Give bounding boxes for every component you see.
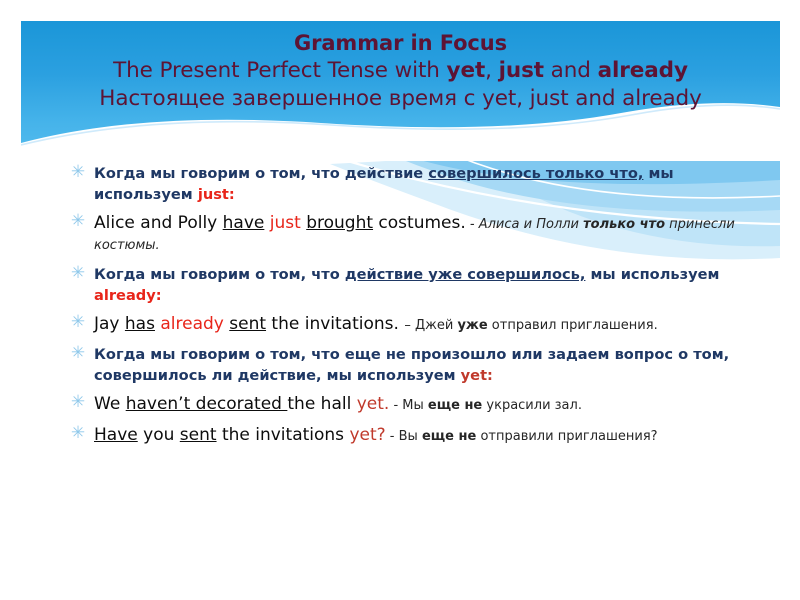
text-run-1: haven’t decorated: [126, 394, 288, 414]
bullet-text: Когда мы говорим о том, что действие сов…: [94, 164, 674, 203]
asterisk-bullet-icon: ✳: [70, 213, 86, 230]
text-run-0: Jay: [94, 314, 125, 334]
bullet-text: Jay has already sent the invitations. – …: [94, 315, 658, 333]
text-run-3: just: [270, 213, 301, 233]
bullet-item-rule-already: ✳Когда мы говорим о том, что действие уж…: [66, 264, 766, 306]
text-run-8: отправили приглашения?: [476, 429, 657, 444]
text-run-6: Вы: [399, 429, 422, 444]
text-run-0: We: [94, 394, 126, 414]
text-run-2: the hall: [287, 394, 356, 414]
slide-canvas: Grammar in Focus The Present Perfect Ten…: [0, 0, 800, 600]
text-run-1: совершилось только что,: [428, 165, 643, 182]
text-run-7: – Джей: [404, 318, 457, 333]
text-run-8: уже: [457, 318, 487, 333]
text-run-0: Have: [94, 425, 138, 445]
bullet-text: Have you sent the invitations yet? - Вы …: [94, 426, 658, 444]
text-run-9: только что: [583, 217, 665, 232]
bullet-item-rule-yet: ✳ Когда мы говорим о том, что еще не про…: [66, 344, 766, 386]
text-run-5: brought: [306, 213, 373, 233]
text-run-5: sent: [229, 314, 266, 334]
header-wave: [21, 103, 780, 161]
text-run-7: украсили зал.: [482, 398, 582, 413]
text-run-1: you: [138, 425, 180, 445]
asterisk-bullet-icon: ✳: [70, 164, 86, 181]
bullet-text: Когда мы говорим о том, что действие уже…: [94, 265, 719, 304]
bullet-text: Когда мы говорим о том, что еще не произ…: [94, 345, 729, 384]
asterisk-bullet-icon: ✳: [70, 265, 86, 282]
text-run-2: sent: [180, 425, 217, 445]
asterisk-bullet-icon: ✳: [70, 314, 86, 331]
text-run-1: действие уже совершилось,: [345, 266, 586, 283]
text-run-0: Alice and Polly: [94, 213, 223, 233]
bullet-item-example-already: ✳Jay has already sent the invitations. –…: [66, 313, 766, 335]
text-run-3: the invitations: [217, 425, 350, 445]
text-run-1: have: [223, 213, 265, 233]
bullet-text: Alice and Polly have just brought costum…: [94, 214, 735, 253]
bullet-item-example-yet-question: ✳Have you sent the invitations yet? - Вы…: [66, 424, 766, 446]
bullet-text: We haven’t decorated the hall yet. - Мы …: [94, 395, 582, 413]
text-run-9: отправил приглашения.: [488, 318, 658, 333]
text-run-2: мы используем: [585, 266, 719, 283]
text-run-4: yet?: [349, 425, 385, 445]
text-run-3: just:: [198, 186, 235, 203]
bullet-item-example-just: ✳Alice and Polly have just brought costu…: [66, 212, 766, 255]
text-run-6: costumes.: [373, 213, 466, 233]
text-run-3: yet.: [357, 394, 390, 414]
slide-header-band: [21, 21, 780, 161]
text-run-0: Когда мы говорим о том, что: [94, 266, 345, 283]
text-run-0: Когда мы говорим о том, что еще не произ…: [94, 346, 729, 384]
text-run-3: already: [160, 314, 223, 334]
text-run-3: already:: [94, 287, 162, 304]
bullet-item-example-yet-negative: ✳We haven’t decorated the hall yet. - Мы…: [66, 393, 766, 415]
text-run-8: Алиса и Полли: [479, 217, 583, 232]
text-run-4: -: [389, 398, 402, 413]
text-run-5: Мы: [402, 398, 428, 413]
text-run-7: -: [466, 217, 479, 232]
asterisk-bullet-icon: ✳: [70, 425, 86, 442]
text-run-1: has: [125, 314, 155, 334]
text-run-1: yet:: [461, 367, 493, 384]
body-bullet-list: ✳Когда мы говорим о том, что действие со…: [66, 163, 766, 453]
bullet-item-rule-just: ✳Когда мы говорим о том, что действие со…: [66, 163, 766, 205]
text-run-7: еще не: [422, 429, 476, 444]
text-run-5: -: [386, 429, 399, 444]
text-run-6: the invitations.: [266, 314, 404, 334]
text-run-0: Когда мы говорим о том, что действие: [94, 165, 428, 182]
asterisk-bullet-icon: ✳: [70, 394, 86, 411]
asterisk-bullet-icon: ✳: [70, 345, 86, 362]
text-run-6: еще не: [428, 398, 482, 413]
